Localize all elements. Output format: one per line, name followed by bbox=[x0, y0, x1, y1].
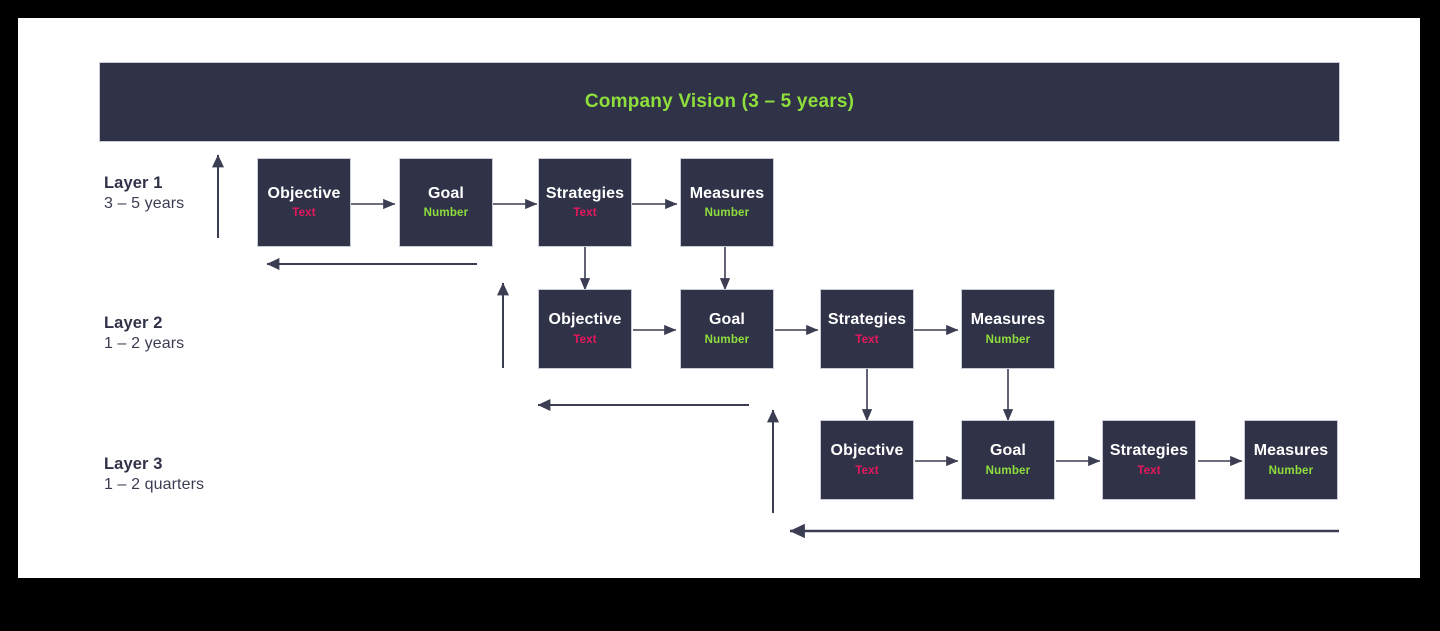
layer-2-name: Layer 2 bbox=[104, 313, 184, 334]
layer-3-timeframe: 1 – 2 quarters bbox=[104, 475, 204, 495]
node-title: Measures bbox=[1254, 442, 1329, 460]
layer-1-node-objective[interactable]: Objective Text bbox=[257, 158, 351, 247]
node-title: Strategies bbox=[1110, 442, 1188, 460]
node-title: Objective bbox=[831, 442, 904, 460]
layer-1-timeframe: 3 – 5 years bbox=[104, 194, 184, 214]
layer-2-node-objective[interactable]: Objective Text bbox=[538, 289, 632, 369]
node-subtype: Number bbox=[986, 465, 1031, 478]
layer-2-node-measures[interactable]: Measures Number bbox=[961, 289, 1055, 369]
layer-2-timeframe: 1 – 2 years bbox=[104, 334, 184, 354]
node-subtype: Text bbox=[1137, 465, 1161, 478]
node-title: Strategies bbox=[828, 311, 906, 329]
node-title: Strategies bbox=[546, 185, 624, 203]
layer-1-label: Layer 1 3 – 5 years bbox=[104, 173, 184, 215]
node-subtype: Number bbox=[1269, 465, 1314, 478]
node-title: Objective bbox=[268, 185, 341, 203]
layer-2-node-strategies[interactable]: Strategies Text bbox=[820, 289, 914, 369]
layer-1-name: Layer 1 bbox=[104, 173, 184, 194]
node-subtype: Number bbox=[986, 334, 1031, 347]
diagram-canvas: Company Vision (3 – 5 years) Layer 1 3 –… bbox=[18, 18, 1420, 578]
node-title: Measures bbox=[971, 311, 1046, 329]
layer-3-node-strategies[interactable]: Strategies Text bbox=[1102, 420, 1196, 500]
layer-2-label: Layer 2 1 – 2 years bbox=[104, 313, 184, 355]
layer-1-node-strategies[interactable]: Strategies Text bbox=[538, 158, 632, 247]
layer-3-node-objective[interactable]: Objective Text bbox=[820, 420, 914, 500]
node-title: Goal bbox=[428, 185, 464, 203]
node-title: Measures bbox=[690, 185, 765, 203]
layer-3-node-goal[interactable]: Goal Number bbox=[961, 420, 1055, 500]
node-subtype: Text bbox=[855, 334, 879, 347]
node-subtype: Number bbox=[705, 207, 750, 220]
node-subtype: Text bbox=[292, 207, 316, 220]
node-subtype: Text bbox=[855, 465, 879, 478]
layer-3-node-measures[interactable]: Measures Number bbox=[1244, 420, 1338, 500]
node-title: Objective bbox=[549, 311, 622, 329]
node-subtype: Number bbox=[424, 207, 469, 220]
company-vision-title: Company Vision (3 – 5 years) bbox=[585, 91, 854, 113]
layer-1-node-goal[interactable]: Goal Number bbox=[399, 158, 493, 247]
cascade-layer2-to-layer3 bbox=[867, 369, 1008, 421]
company-vision-banner: Company Vision (3 – 5 years) bbox=[99, 62, 1340, 142]
node-subtype: Text bbox=[573, 207, 597, 220]
layer-2-node-goal[interactable]: Goal Number bbox=[680, 289, 774, 369]
layer-3-label: Layer 3 1 – 2 quarters bbox=[104, 454, 204, 496]
layer-3-name: Layer 3 bbox=[104, 454, 204, 475]
node-title: Goal bbox=[709, 311, 745, 329]
image-frame: Company Vision (3 – 5 years) Layer 1 3 –… bbox=[0, 0, 1440, 631]
node-subtype: Text bbox=[573, 334, 597, 347]
node-subtype: Number bbox=[705, 334, 750, 347]
layer-1-node-measures[interactable]: Measures Number bbox=[680, 158, 774, 247]
node-title: Goal bbox=[990, 442, 1026, 460]
